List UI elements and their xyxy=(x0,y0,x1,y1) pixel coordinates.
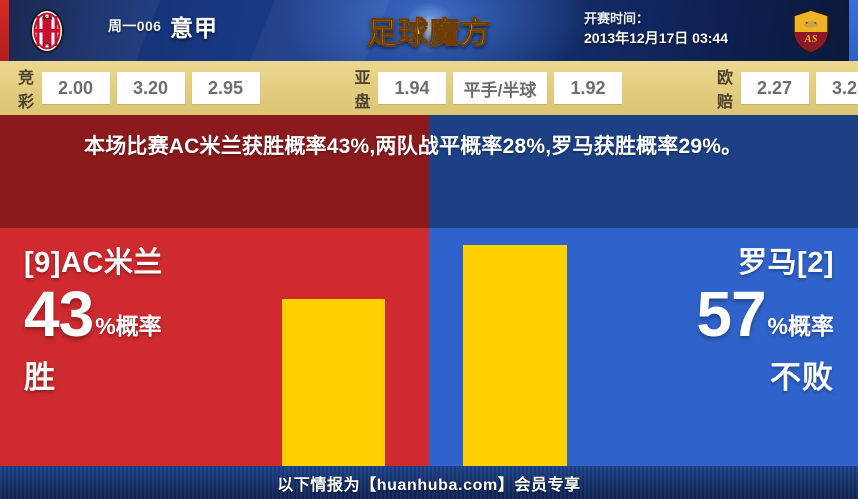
odds-group-asian: 亚盘 1.94 平手/半球 1.92 xyxy=(355,61,630,115)
header-bar: ACM 1899 周一006 意甲 足球魔方 开赛时间： 2013年12月17日… xyxy=(0,0,858,61)
summary-text: 本场比赛AC米兰获胜概率43%,两队战平概率28%,罗马获胜概率29%。 xyxy=(84,131,784,163)
odds-cell-home[interactable]: 1.94 xyxy=(378,72,446,104)
odds-group-jingcai: 竞彩 2.00 3.20 2.95 xyxy=(18,61,267,115)
odds-cell-home[interactable]: 2.00 xyxy=(42,72,110,104)
home-percent-unit: %概率 xyxy=(95,315,161,346)
home-percent-row: 43 %概率 xyxy=(24,282,274,346)
odds-cell-draw[interactable]: 3.28 xyxy=(816,72,858,104)
as-roma-crest-icon: AS xyxy=(786,7,836,55)
svg-text:1899: 1899 xyxy=(43,42,53,47)
ac-milan-crest-icon: ACM 1899 xyxy=(22,6,72,56)
footer-bar: 以下情报为【huanhuba.com】会员专享 xyxy=(0,466,858,499)
svg-text:AS: AS xyxy=(804,34,818,45)
away-outcome-label: 不败 xyxy=(574,352,834,397)
odds-group-label: 欧赔 xyxy=(717,64,734,112)
kickoff-time: 2013年12月17日 03:44 xyxy=(584,28,762,48)
brand-logo: 足球魔方 xyxy=(354,5,504,55)
odds-cell-away[interactable]: 1.92 xyxy=(554,72,622,104)
bar-away-probability xyxy=(463,245,567,466)
away-team-block: 罗马[2] 57 %概率 不败 xyxy=(574,246,834,397)
odds-cell-handicap[interactable]: 平手/半球 xyxy=(453,72,547,104)
odds-bar: 竞彩 2.00 3.20 2.95 亚盘 1.94 平手/半球 1.92 欧赔 … xyxy=(0,61,858,115)
bar-home-probability xyxy=(282,299,385,466)
home-percent-value: 43 xyxy=(24,282,93,346)
brand-text: 足球魔方 xyxy=(367,8,491,52)
away-percent-unit: %概率 xyxy=(768,315,834,346)
footer-text: 以下情报为【huanhuba.com】会员专享 xyxy=(277,471,581,495)
away-percent-value: 57 xyxy=(696,282,765,346)
away-percent-row: 57 %概率 xyxy=(574,282,834,346)
odds-group-label: 亚盘 xyxy=(355,64,372,112)
svg-text:ACM: ACM xyxy=(42,16,52,21)
home-outcome-label: 胜 xyxy=(24,352,274,397)
header-right-accent xyxy=(849,0,858,61)
odds-cell-away[interactable]: 2.95 xyxy=(192,72,260,104)
odds-group-european: 欧赔 2.27 3.28 3.06 xyxy=(717,61,858,115)
kickoff-label: 开赛时间： xyxy=(584,9,762,28)
away-team-name: 罗马[2] xyxy=(574,246,834,280)
odds-cell-home[interactable]: 2.27 xyxy=(741,72,809,104)
home-team-block: [9]AC米兰 43 %概率 胜 xyxy=(24,246,274,397)
kickoff-info: 开赛时间： 2013年12月17日 03:44 xyxy=(584,9,762,48)
summary-band: 本场比赛AC米兰获胜概率43%,两队战平概率28%,罗马获胜概率29%。 xyxy=(0,115,858,228)
probability-chart: [9]AC米兰 43 %概率 胜 罗马[2] 57 %概率 不败 xyxy=(0,228,858,466)
league-name: 意甲 xyxy=(170,9,218,43)
match-number: 周一006 xyxy=(108,16,161,36)
odds-group-label: 竞彩 xyxy=(18,64,35,112)
odds-cell-draw[interactable]: 3.20 xyxy=(117,72,185,104)
match-prediction-graphic: ACM 1899 周一006 意甲 足球魔方 开赛时间： 2013年12月17日… xyxy=(0,0,858,499)
header-left-accent xyxy=(0,0,9,61)
home-team-name: [9]AC米兰 xyxy=(24,246,274,280)
